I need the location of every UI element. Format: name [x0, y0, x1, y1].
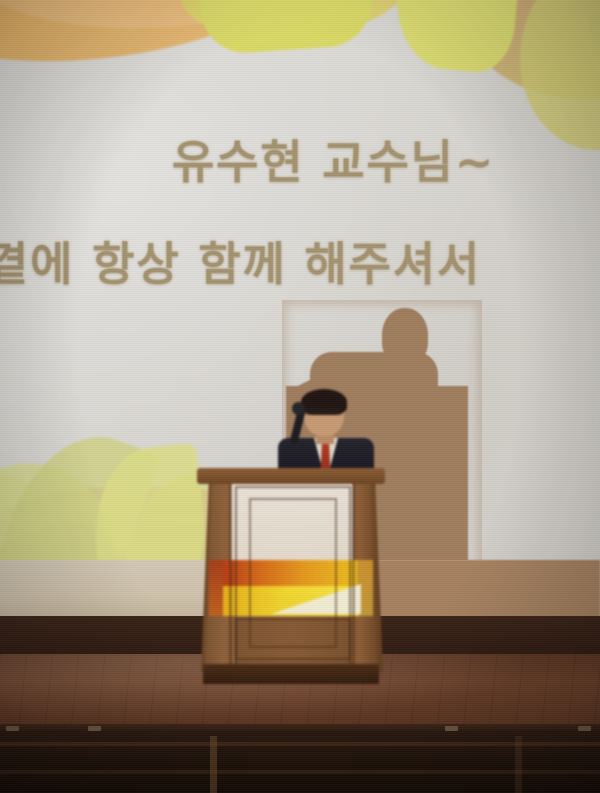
microphone-icon — [292, 402, 305, 415]
podium-base — [203, 664, 379, 684]
podium-stile — [352, 482, 355, 672]
glasses-icon — [306, 408, 342, 415]
stage-edge-clip — [445, 726, 458, 731]
slide-title-line: 유수현 교수님~ — [172, 126, 495, 192]
stage-front-post — [515, 736, 522, 793]
podium-stile — [229, 482, 232, 672]
shadow-head — [382, 308, 428, 364]
stage-edge-clip — [88, 726, 101, 731]
slide-body-line: 곁에 항상 함께 해주셔서 — [0, 228, 481, 294]
stage-edge-clip — [578, 726, 591, 731]
photo-scene: 유수현 교수님~ 곁에 항상 함께 해주셔서 — [0, 0, 600, 793]
podium — [205, 468, 377, 684]
stage-front-rail-lower — [0, 770, 600, 774]
stage-front-rail-upper — [0, 742, 600, 746]
stage-edge-clip — [6, 726, 19, 731]
stage-front-post — [210, 736, 217, 793]
podium-lower-panel — [235, 618, 351, 668]
stage-front-panel — [0, 730, 600, 793]
podium-lectern-top — [197, 468, 385, 484]
